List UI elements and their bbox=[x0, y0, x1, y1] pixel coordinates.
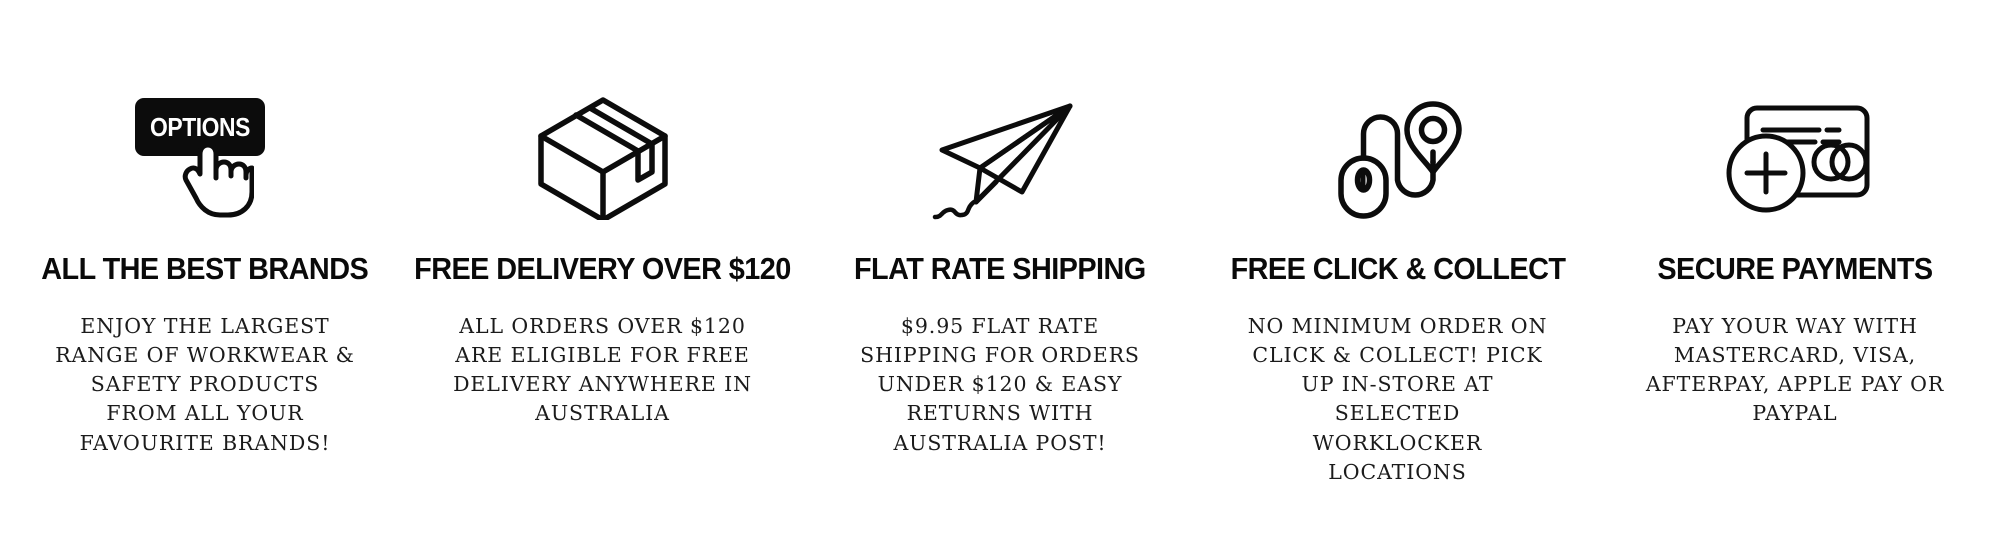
benefit-description: No minimum order on click & collect! Pic… bbox=[1248, 312, 1548, 487]
options-button-cursor-icon: OPTIONS bbox=[130, 90, 280, 220]
mouse-location-pin-icon bbox=[1334, 96, 1462, 220]
icon-container bbox=[408, 70, 798, 220]
benefit-description: Pay your way with Mastercard, Visa, Afte… bbox=[1645, 312, 1945, 428]
icon-container bbox=[1203, 70, 1593, 220]
hand-cursor-icon bbox=[182, 126, 254, 218]
icon-container bbox=[1600, 70, 1990, 220]
paper-plane-icon bbox=[920, 98, 1080, 220]
benefit-title: FLAT RATE SHIPPING bbox=[854, 252, 1146, 286]
benefit-title: FREE DELIVERY OVER $120 bbox=[414, 252, 791, 286]
benefit-title: FREE CLICK & COLLECT bbox=[1230, 252, 1565, 286]
benefit-description: All orders over $120 are eligible for fr… bbox=[447, 312, 759, 428]
benefit-title: ALL THE BEST BRANDS bbox=[42, 252, 369, 286]
benefit-column-free-delivery: FREE DELIVERY OVER $120 All orders over … bbox=[408, 0, 798, 429]
benefit-column-secure-payments: SECURE PAYMENTS Pay your way with Master… bbox=[1600, 0, 1990, 429]
benefit-description: Enjoy the largest range of workwear & sa… bbox=[55, 312, 355, 458]
credit-card-plus-icon bbox=[1715, 100, 1875, 220]
benefit-description: $9.95 flat rate shipping for orders unde… bbox=[842, 312, 1158, 458]
benefit-column-all-the-best-brands: OPTIONS ALL THE BEST BRANDS Enjoy the la… bbox=[10, 0, 400, 458]
icon-container: OPTIONS bbox=[10, 70, 400, 220]
shipping-box-icon bbox=[535, 94, 671, 220]
benefit-title: SECURE PAYMENTS bbox=[1657, 252, 1932, 286]
icon-container bbox=[805, 70, 1195, 220]
benefit-column-click-and-collect: FREE CLICK & COLLECT No minimum order on… bbox=[1203, 0, 1593, 487]
benefit-column-flat-rate-shipping: FLAT RATE SHIPPING $9.95 flat rate shipp… bbox=[805, 0, 1195, 458]
benefits-bar: OPTIONS ALL THE BEST BRANDS Enjoy the la… bbox=[0, 0, 2000, 556]
